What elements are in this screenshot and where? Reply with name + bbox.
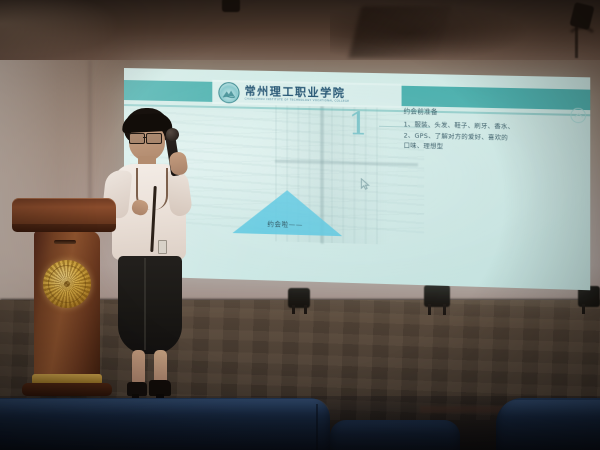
stage-light-leg — [428, 304, 431, 315]
institution-logo-subtext: CHANGZHOU INSTITUTE OF TECHNOLOGY VOCATI… — [245, 98, 350, 103]
presenter-left-leg — [132, 350, 145, 386]
eyeglasses-icon — [129, 133, 165, 142]
ceiling-glow — [0, 0, 120, 60]
presenter-badge — [158, 240, 167, 254]
stage-light-leg — [443, 304, 446, 315]
section-number: 1 — [348, 109, 368, 141]
mountain-wave-logo-icon — [218, 82, 239, 104]
ceiling-rig-shadow — [349, 6, 452, 58]
ceiling-cable-loop — [565, 26, 599, 60]
institution-logo: 常州理工职业学院 CHANGZHOU INSTITUTE OF TECHNOLO… — [218, 82, 349, 106]
lectern-base — [22, 383, 112, 396]
lectern — [12, 198, 116, 398]
photo-scene: 常州理工职业学院 CHANGZHOU INSTITUTE OF TECHNOLO… — [0, 0, 600, 450]
audience-chair-seam — [316, 404, 318, 450]
ceiling-light-icon — [222, 0, 240, 12]
lectern-slot — [54, 240, 76, 244]
audience-chair — [330, 420, 460, 450]
presenter-skirt — [118, 256, 182, 354]
institution-logo-text: 常州理工职业学院 — [245, 85, 350, 98]
stage-light-leg — [582, 304, 585, 314]
stage-light-leg — [292, 305, 295, 314]
audience-chair-sheen — [0, 399, 330, 415]
lectern-top-edge — [12, 224, 116, 232]
lectern-gold-emblem-icon — [43, 260, 91, 308]
presenter-hair-fringe — [122, 113, 173, 134]
stage-light-leg — [304, 305, 307, 314]
slide-body: 约会前准备 1、服装、头发、鞋子、刷牙、香水、 2、GPS、了解对方的爱好、喜欢… — [404, 106, 582, 157]
presenter-skirt-seam — [144, 258, 146, 350]
audience-chair-sheen — [500, 400, 600, 416]
